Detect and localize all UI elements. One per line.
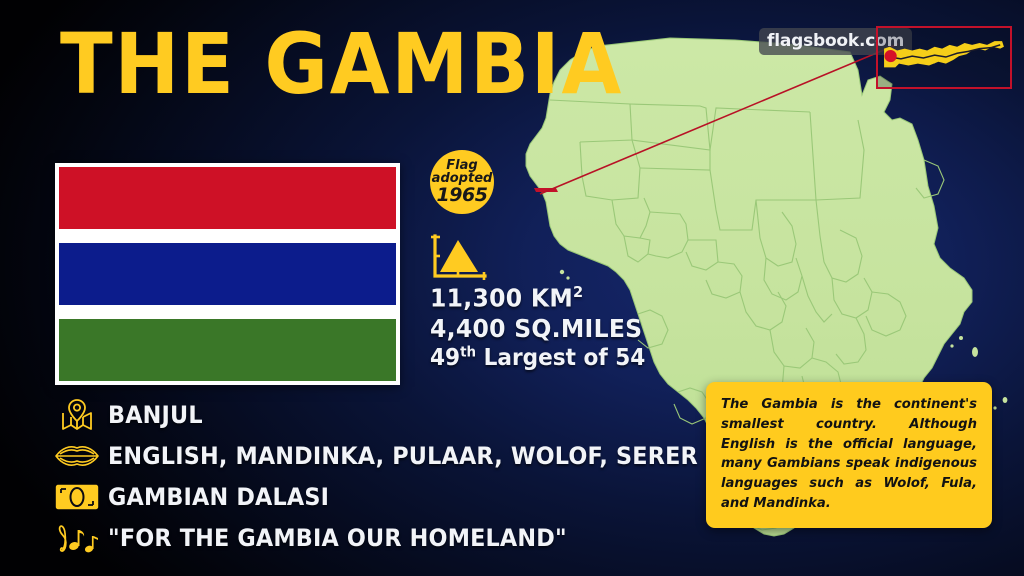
banknote-icon bbox=[46, 483, 108, 511]
fact-row-currency: GAMBIAN DALASI bbox=[46, 476, 666, 517]
fact-label-languages: ENGLISH, MANDINKA, PULAAR, WOLOF, SERER bbox=[108, 442, 698, 470]
flag-of-the-gambia bbox=[55, 163, 400, 385]
area-sq-miles: 4,400 SQ.MILES bbox=[430, 314, 645, 345]
badge-line-3: 1965 bbox=[437, 186, 488, 205]
flag-band-red bbox=[59, 167, 396, 229]
flag-band-blue bbox=[59, 243, 396, 305]
area-triangle-icon bbox=[430, 232, 490, 282]
area-km2: 11,300 KM2 bbox=[430, 283, 645, 314]
map-pin-icon bbox=[46, 398, 108, 432]
badge-line-1: Flag bbox=[446, 159, 477, 172]
country-infographic-poster: flagsbook.com The Gambia is the continen… bbox=[0, 0, 1024, 576]
flag-adopted-badge: Flag adopted 1965 bbox=[430, 150, 494, 214]
area-rank: 49th Largest of 54 bbox=[430, 344, 645, 372]
banjul-red-dot bbox=[885, 50, 897, 62]
fact-row-languages: ENGLISH, MANDINKA, PULAAR, WOLOF, SERER bbox=[46, 435, 666, 476]
country-facts-list: BANJUL ENGLISH, MANDINKA, PULAAR, WOLOF,… bbox=[46, 394, 666, 558]
flag-band-white-1 bbox=[59, 229, 396, 243]
lips-icon bbox=[46, 443, 108, 469]
flag-band-white-2 bbox=[59, 305, 396, 319]
fact-label-capital: BANJUL bbox=[108, 401, 203, 429]
area-statistics: 11,300 KM2 4,400 SQ.MILES 49th Largest o… bbox=[430, 283, 659, 372]
music-notes-icon bbox=[46, 522, 108, 554]
gambia-outline bbox=[884, 41, 1004, 67]
fact-row-anthem: "FOR THE GAMBIA OUR HOMELAND" bbox=[46, 517, 666, 558]
fact-label-anthem: "FOR THE GAMBIA OUR HOMELAND" bbox=[108, 524, 567, 552]
info-callout-box: The Gambia is the continent's smallest c… bbox=[706, 382, 992, 528]
page-title: THE GAMBIA bbox=[60, 22, 623, 106]
gambia-country-shape-inset bbox=[876, 26, 1012, 89]
fact-row-capital: BANJUL bbox=[46, 394, 666, 435]
flag-band-green bbox=[59, 319, 396, 381]
fact-label-currency: GAMBIAN DALASI bbox=[108, 483, 329, 511]
